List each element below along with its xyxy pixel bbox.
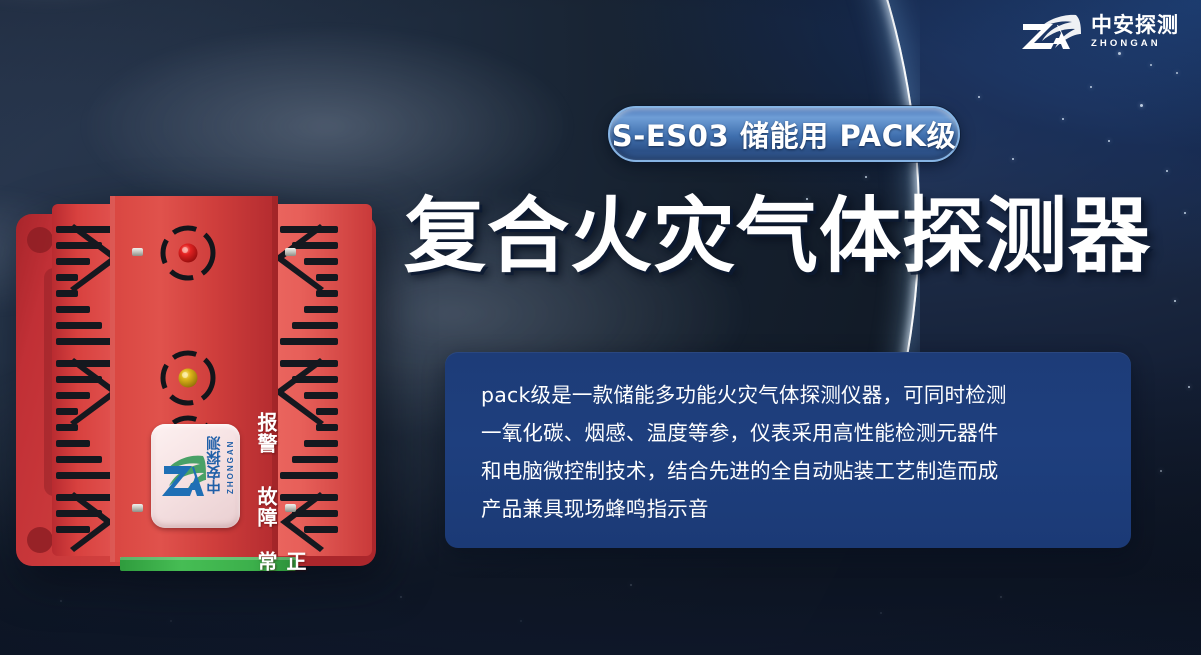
device-logo-plate: ZHONGAN 中安探测 (151, 424, 240, 528)
device-plate-name-en: ZHONGAN (226, 440, 235, 494)
description-line-4: 产品兼具现场蜂鸣指示音 (481, 490, 1101, 528)
description-line-3: 和电脑微控制技术，结合先进的全自动贴装工艺制造而成 (481, 452, 1101, 490)
device-plate-brand: ZHONGAN 中安探测 (204, 436, 235, 494)
za-swoosh-logo-icon (156, 450, 206, 504)
led-label-normal: 正常 (252, 551, 310, 580)
device-plate-name-cn: 中安探测 (204, 436, 225, 494)
brand-logo: 中安探测 ZHONGAN (1020, 12, 1179, 52)
product-banner: 中安探测 ZHONGAN S-ES03 储能用 PACK级 复合火灾气体探测器 … (0, 0, 1201, 655)
brand-name-en: ZHONGAN (1091, 39, 1161, 49)
product-model-label: S-ES03 储能用 PACK级 (612, 113, 957, 155)
page-title: 复合火灾气体探测器 (404, 196, 1151, 278)
brand-name-cn: 中安探测 (1091, 15, 1179, 36)
brand-text: 中安探测 ZHONGAN (1091, 15, 1179, 49)
za-swoosh-logo-icon (1020, 12, 1082, 52)
description-line-2: 一氧化碳、烟感、温度等参，仪表采用高性能检测元器件 (481, 414, 1101, 452)
product-model-badge: S-ES03 储能用 PACK级 (608, 106, 960, 162)
led-label-fault: 故障 (252, 486, 281, 528)
led-label-alarm: 报警 (252, 412, 281, 454)
description-line-1: pack级是一款储能多功能火灾气体探测仪器，可同时检测 (481, 376, 1101, 414)
description-panel: pack级是一款储能多功能火灾气体探测仪器，可同时检测 一氧化碳、烟感、温度等参… (445, 352, 1131, 548)
